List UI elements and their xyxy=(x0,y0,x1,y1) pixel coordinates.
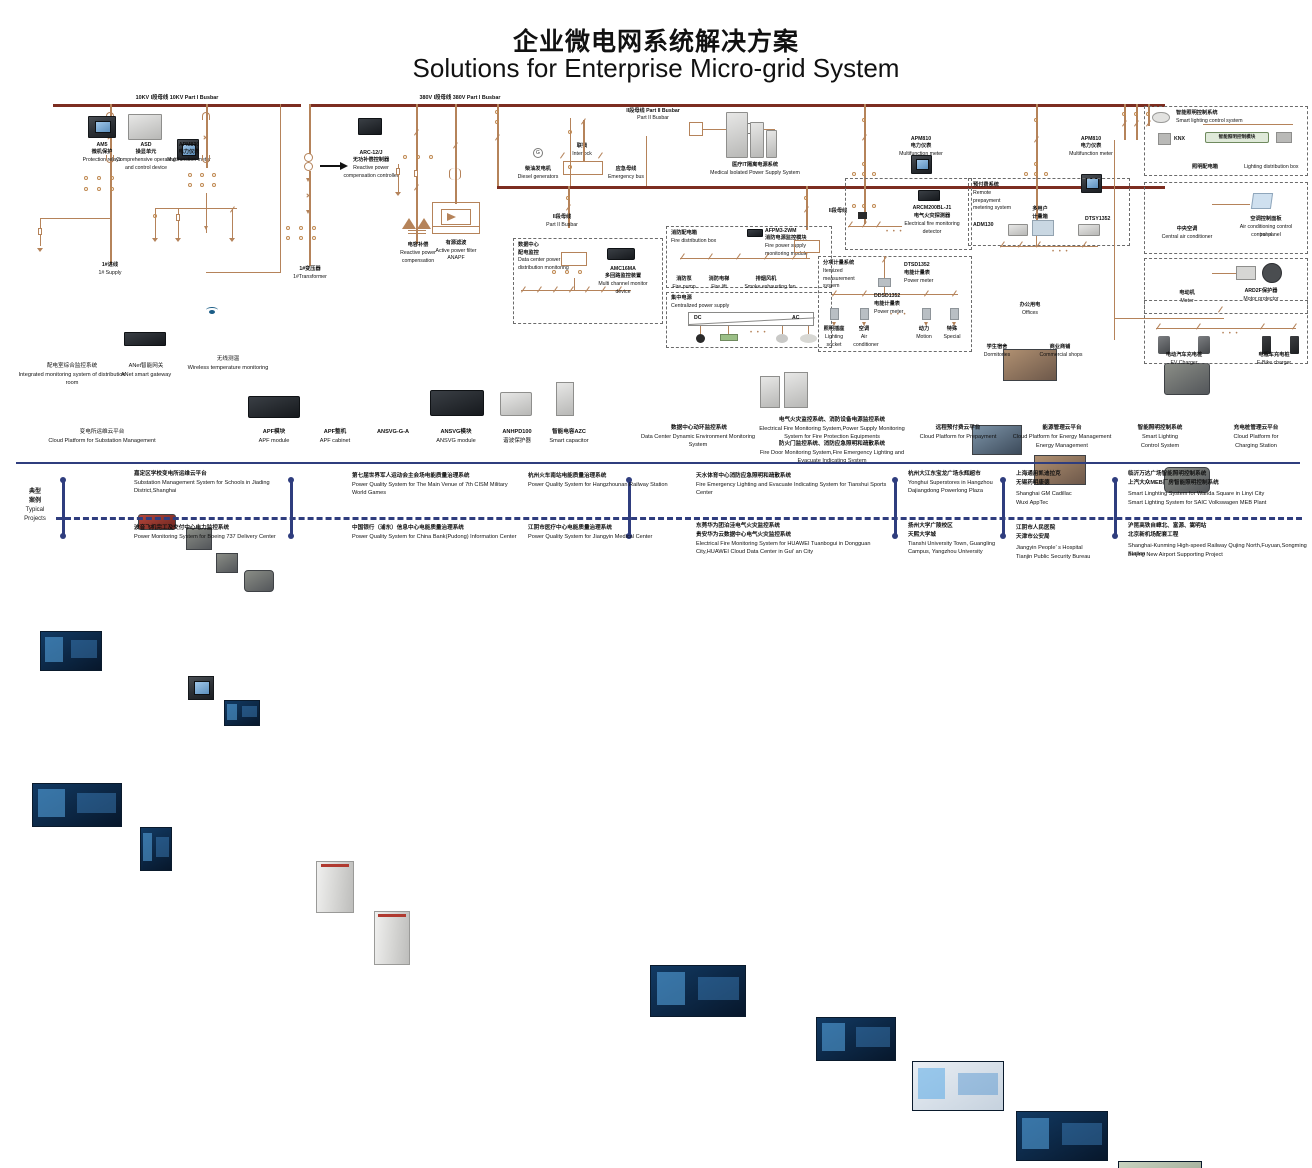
platform-1-en: Electrical Fire Monitoring System,Power … xyxy=(752,425,912,441)
fire-load-2-en: Smoke exhausting fan xyxy=(738,284,802,292)
motor-cn: 电动机 xyxy=(1162,290,1212,298)
ct-dc xyxy=(566,196,570,200)
platform-4-en2: Control System xyxy=(1112,442,1208,450)
typical-label-cn: 典型 案例 xyxy=(14,488,56,506)
itemized-load-3-en: Special xyxy=(936,334,968,342)
project-7b-en2: Beijing New Airport Supporting Project xyxy=(1128,551,1308,559)
project-2a-cn: 第七届世界军人运动会主会场电能质量治理系统 xyxy=(352,472,518,480)
wire-vt1 xyxy=(155,208,156,238)
ct-det-2 xyxy=(862,162,866,166)
project-1a-en: Substation Management System for Schools… xyxy=(134,479,296,496)
motor-protector-icon xyxy=(1236,266,1256,280)
reactor-symbol xyxy=(447,168,463,182)
prepay-multiuser-cn: 多用户 计量箱 xyxy=(1024,206,1056,221)
product-row-1-en: APF cabinet xyxy=(308,437,362,445)
ebike-charger-cn: 电瓶车充电桩 xyxy=(1240,352,1308,360)
switch-charging xyxy=(1218,312,1224,318)
platform-2-cn: 远程预付费云平台 xyxy=(910,424,1006,432)
wire-gen-top xyxy=(497,104,499,132)
itemized-meter-top-cn: 电能计量表 xyxy=(904,270,952,278)
centralized-loads: • • • xyxy=(694,326,814,342)
apf-model: ANAPF xyxy=(420,255,492,263)
product-photo-hmi xyxy=(224,700,260,726)
ground-symbol-4 xyxy=(229,238,235,242)
project-5b-en: Tianshi University Town, Guangling Campu… xyxy=(908,540,1000,557)
arrow-transformer-2 xyxy=(306,210,310,214)
switch-gen xyxy=(495,140,501,146)
ev-charger-en: EV Charger xyxy=(1148,360,1220,368)
ground-symbol-3 xyxy=(175,238,181,242)
supply-label-cn: 1#进线 xyxy=(62,262,158,270)
project-2a-en: Power Quality System for The Main Venue … xyxy=(352,481,518,498)
itemized-meter-top-model: DTSD1352 xyxy=(904,262,952,270)
hvac-unit-photo xyxy=(1164,363,1210,395)
detector-cn: 电气火灾探测器 xyxy=(896,213,968,221)
centralized-dc-label: DC xyxy=(694,315,710,323)
ground-symbol xyxy=(37,248,43,252)
fire-switchgear-symbol xyxy=(794,240,820,253)
itemized-meter-top-en: Power meter xyxy=(904,278,952,286)
project-6a-en: Shanghai GM Cadillac xyxy=(1016,490,1112,498)
ct-medical-1 xyxy=(568,130,572,134)
prepay-dtsy-model: DTSY1352 xyxy=(1085,216,1127,224)
itemized-load-1-en2: conditioner xyxy=(846,342,886,350)
wire-vt2 xyxy=(178,208,179,238)
project-5b-cn: 扬州大学广陵校区 xyxy=(908,522,1000,530)
projects-node-1a xyxy=(60,477,66,483)
amc-en: Multi channel monitor device xyxy=(592,281,654,296)
projects-divider xyxy=(16,462,1300,464)
device-photo-medical-cabinet-3 xyxy=(766,130,777,158)
fire-load-0-en: Fire pump xyxy=(666,284,702,292)
sensor-photo-ring xyxy=(244,570,274,592)
switch-reactive-2 xyxy=(414,190,420,196)
projects-node-5a xyxy=(1000,477,1006,483)
product-upper-1-cn: ANet智能网关 xyxy=(116,362,176,370)
amc-cn: 多回路监控装置 xyxy=(592,273,654,281)
project-1b-en: Power Monitoring System for Boeing 737 D… xyxy=(134,533,296,541)
busbar-380v-label: 380V I段母线 380V Part I Busbar xyxy=(330,93,590,101)
building-1-cn: 学生宿舍 xyxy=(970,344,1024,352)
switch-symbol xyxy=(230,212,236,218)
hvac-unit-cn: 中央空调 xyxy=(1160,226,1214,234)
product-photo-cloud-substation xyxy=(32,783,122,827)
detector-model: ARCM200BL-J1 xyxy=(896,205,968,213)
building-1-en: Dormitories xyxy=(970,352,1024,360)
itemized-title-cn: 分项计量系统 xyxy=(823,260,879,268)
product-photo-apf-cabinet xyxy=(316,861,354,913)
project-6b-cn: 江阴市人民医院 xyxy=(1016,524,1112,532)
projects-rail-6 xyxy=(1114,480,1117,536)
platform-5-en: Cloud Platform for xyxy=(1206,433,1306,441)
device-photo-multiuser-box xyxy=(1032,220,1054,236)
fuse-symbol xyxy=(38,228,42,235)
prepay-title-cn: 预付费系统 xyxy=(973,182,1027,190)
switch-fire xyxy=(804,212,810,218)
project-6a-cn: 上海通用凯迪拉克 xyxy=(1016,470,1112,478)
platform-3-en: Cloud Platform for Energy Management xyxy=(1010,433,1114,441)
diesel-en: Diesel generators xyxy=(508,174,568,182)
ct-group-reactive xyxy=(403,155,449,164)
project-5b-cn2: 天熙大学城 xyxy=(908,531,1000,539)
detector-en: Electrical fire monitoring detector xyxy=(896,221,968,236)
project-4a-cn: 天水体育中心消防应急照明和疏散系统 xyxy=(696,472,892,480)
breaker-symbol-2 xyxy=(203,134,208,139)
device-photo-arcm200 xyxy=(918,190,940,201)
ground-reactive xyxy=(395,192,401,196)
fire-load-1-cn: 消防电梯 xyxy=(700,276,738,284)
page-title-en: Solutions for Enterprise Micro-grid Syst… xyxy=(0,53,1312,84)
platform-screen-energy xyxy=(1016,1111,1108,1161)
ct-gen-2 xyxy=(495,120,499,124)
wireless-signal-icon xyxy=(205,305,219,314)
ct-prepay-2 xyxy=(1034,162,1038,166)
switch-reactive xyxy=(414,135,420,141)
device-photo-arc12j xyxy=(358,118,382,135)
product-photo-apf-module xyxy=(248,396,300,418)
prepay-feeder-group: • • • xyxy=(1000,246,1100,260)
itemized-load-2-cn: 动力 xyxy=(910,326,938,334)
prepay-adm-model: ADM130 xyxy=(973,222,1007,230)
motor-protector-model: ARD2F保护器 xyxy=(1228,288,1294,296)
project-2b-cn: 中国银行（浦东）信息中心电能质量治理系统 xyxy=(352,524,518,532)
product-photo-anet-gateway xyxy=(124,332,166,346)
isolator-symbol-2b xyxy=(202,155,210,163)
device-photo-asd xyxy=(128,114,162,140)
ct-group-left xyxy=(84,176,136,198)
platform-1-cn: 电气火灾监控系统、消防设备电源监控系统 xyxy=(756,416,908,424)
itemized-load-3-cn: 特殊 xyxy=(938,326,966,334)
wire-transformer-link xyxy=(206,272,281,273)
platform-screen-datacenter xyxy=(650,965,746,1017)
building-0-en: Offices xyxy=(1002,310,1058,318)
platform-0-en: Data Center Dynamic Environment Monitori… xyxy=(638,433,758,449)
device-photo-am5 xyxy=(88,116,116,138)
interlock-switch-l xyxy=(560,158,566,164)
wire-dc-down xyxy=(574,278,575,290)
apf-cn: 有源滤波 xyxy=(426,240,486,248)
fire-load-2-cn: 排烟风机 xyxy=(746,276,786,284)
fuse-reactive xyxy=(414,170,418,177)
product-photo-smart-capacitor xyxy=(556,382,574,416)
product-row-0-cn: APF模块 xyxy=(246,428,302,436)
switch-interlock-up xyxy=(581,124,587,130)
cloud-substation-en: Cloud Platform for Substation Management xyxy=(18,437,186,445)
lighting-box-en: Lighting distribution box xyxy=(1244,164,1306,172)
fire-feeder-group xyxy=(680,258,812,272)
centralized-title-cn: 集中电源 xyxy=(671,295,721,303)
apf-unit-symbol xyxy=(432,202,480,234)
wire-bottom-left-rail xyxy=(155,208,237,209)
device-photo-amc16ma xyxy=(607,248,635,260)
device-photo-medical-cabinet-2 xyxy=(750,122,764,158)
transformer-symbol-bottom xyxy=(304,162,313,171)
medical-cn: 医疗IT隔离电源系统 xyxy=(700,162,810,170)
project-6b-cn2: 天津市公安局 xyxy=(1016,533,1112,541)
part2-busbar-en: Part II Busbar xyxy=(617,115,689,123)
projects-rail-5 xyxy=(1002,480,1005,536)
building-2-cn: 商业商铺 xyxy=(1032,344,1088,352)
product-row-5-cn: 智能电容AZC xyxy=(542,428,596,436)
ev-charger-cn: 电动汽车充电桩 xyxy=(1148,352,1220,360)
ct-det-1 xyxy=(862,118,866,122)
projects-node-1b xyxy=(60,533,66,539)
transfer-switch-symbol xyxy=(689,122,703,136)
arrow-transformer xyxy=(306,178,310,182)
project-4a-en: Fire Emergency Lighting and Evacuate Ind… xyxy=(696,481,892,498)
product-row-3-en: ANSVG module xyxy=(426,437,486,445)
medical-en: Medical Isolated Power Supply System xyxy=(692,170,818,178)
wire-medical-drop2 xyxy=(570,118,571,186)
ground-symbol-2 xyxy=(152,238,158,242)
device-photo-afpm3 xyxy=(747,229,763,237)
wire-right-trunk xyxy=(1114,140,1115,340)
itemized-load-0-cn: 照明插座 xyxy=(818,326,850,334)
device-photo-dtsy1352 xyxy=(1078,224,1100,236)
prepay-title-en: Remote prepayment metering system xyxy=(973,190,1019,213)
itemized-load-1-cn: 空调 xyxy=(850,326,878,334)
project-7a-cn2: 上汽大众MEB厂房智能照明控制系统 xyxy=(1128,479,1308,487)
lighting-panel-icon xyxy=(1152,112,1170,123)
project-4b-cn: 东莞华为团泊洼电气火灾监控系统 xyxy=(696,522,896,530)
project-2b-en: Power Quality System for China Bank(Pudo… xyxy=(352,533,518,541)
product-row-4-cn: ANHPD100 xyxy=(490,428,544,436)
platform-screen-fire xyxy=(816,1017,896,1061)
apm810-right-cn: 电力仪表 xyxy=(1066,143,1116,151)
device-photo-medical-cabinet-1 xyxy=(726,112,748,158)
wire-transformer-hv xyxy=(309,104,311,154)
meter-icon-dtsd xyxy=(878,278,891,287)
ct-group-left-2 xyxy=(188,173,232,193)
generator-symbol: G xyxy=(533,148,543,158)
diesel-cn: 柴油发电机 xyxy=(512,166,564,174)
project-7a-en: Smart Linghting System for Wanda Square … xyxy=(1128,490,1308,498)
product-photo-integrated-monitoring xyxy=(40,631,102,671)
building-2-en: Commercial shops xyxy=(1030,352,1092,360)
ct-prepay-1 xyxy=(1034,118,1038,122)
supply-label-en: 1# Supply xyxy=(62,270,158,278)
wire-medical-drop1 xyxy=(646,136,647,186)
detector-icon xyxy=(858,212,867,219)
det-feeder-group: • • • xyxy=(848,226,904,238)
lighting-module-cn: 智能照明控制模块 xyxy=(1203,134,1271,141)
project-1a-cn: 嘉定区学校变电所运维云平台 xyxy=(134,470,296,478)
product-row-4-en: 谐波保护器 xyxy=(490,437,544,445)
hvac-panel-cn: 空调控制面板 xyxy=(1238,216,1294,224)
project-6b-en2: Tianjin Public Security Bureau xyxy=(1016,553,1126,561)
centralized-title-en: Centralized power supply xyxy=(671,303,733,311)
fire-title-cn: 消防配电箱 xyxy=(671,230,725,238)
cloud-substation-cn: 变电所运维云平台 xyxy=(24,428,180,436)
project-4b-cn2: 贵安华为云数据中心电气火灾监控系统 xyxy=(696,531,896,539)
busbar-10kv-label: 10KV I段母线 10KV Part I Busbar xyxy=(53,93,301,101)
project-1b-cn: 波音飞机完工及交付中心电力监控系统 xyxy=(134,524,296,532)
knx-device-icon xyxy=(1158,133,1171,145)
projects-node-5b xyxy=(1000,533,1006,539)
lighting-knx-bus-arrows xyxy=(1203,124,1293,130)
emergency-bus-cn: 应急母线 xyxy=(604,166,648,174)
platform-device-fire-1 xyxy=(760,376,780,408)
transformer-symbol-top xyxy=(304,153,313,162)
project-3b-cn: 江阴市医疗中心电能质量治理系统 xyxy=(528,524,678,532)
lighting-actuator-icon xyxy=(1276,132,1292,143)
fire-load-1-en: Fire lift xyxy=(700,284,738,292)
platform-5-cn: 充电桩管理云平台 xyxy=(1210,424,1302,432)
project-7b-cn: 沪昆高铁自嶂北、富源、嵩明站 xyxy=(1128,522,1308,530)
product-row-5-en: Smart capacitor xyxy=(542,437,596,445)
platform-3-en2: Energy Management xyxy=(1010,442,1114,450)
motor-starter-icon xyxy=(1262,263,1282,283)
fire-load-0-cn: 消防泵 xyxy=(668,276,700,284)
dc-switchgear-symbol xyxy=(561,252,587,266)
lighting-box-cn: 照明配电箱 xyxy=(1192,164,1242,172)
vt-symbol xyxy=(153,214,157,218)
project-6a-cn2: 无锡药明康德 xyxy=(1016,479,1112,487)
hvac-unit-en: Central air conditioner xyxy=(1154,234,1220,242)
product-photo-wireless-temp xyxy=(188,676,214,700)
interlock-switch-r xyxy=(598,158,604,164)
platform-screen-prepayment xyxy=(912,1061,1004,1111)
product-row-3-cn: ANSVG模块 xyxy=(426,428,486,436)
wire-motor-link xyxy=(1212,273,1236,274)
itemized-load-0-en: Lighting xyxy=(818,334,850,342)
ebike-charger-en: E-Bike charger xyxy=(1240,360,1308,368)
switch-prepay xyxy=(1034,142,1040,148)
transformer-label-cn: 1#变压器 xyxy=(272,266,348,274)
projects-node-6b xyxy=(1112,533,1118,539)
switch-det xyxy=(862,140,868,146)
typical-label-en: Typical Projects xyxy=(14,506,56,524)
platform-4-en: Smart Lighting xyxy=(1112,433,1208,441)
project-7a-cn: 临沂万达广场智能照明控制系统 xyxy=(1128,470,1308,478)
apm810-left-cn: 电力仪表 xyxy=(896,143,946,151)
transformer-label-en: 1#Transformer xyxy=(272,274,348,282)
itemized-load-1-en: Air xyxy=(850,334,878,342)
charging-feeder-group: • • • xyxy=(1156,328,1298,340)
project-6b-en: Jiangyin People’ s Hospital xyxy=(1016,544,1112,552)
capacitor-bank-symbol xyxy=(402,218,432,236)
switch-apf xyxy=(453,148,459,154)
projects-node-6a xyxy=(1112,477,1118,483)
wire-charging-feed xyxy=(1114,318,1224,319)
product-photo-ansvg-g-a xyxy=(374,911,410,965)
ct-medical-2 xyxy=(568,165,572,169)
project-3a-cn: 杭州火车南站电能质量治理系统 xyxy=(528,472,678,480)
product-row-1-cn: APF整机 xyxy=(308,428,362,436)
arrow-symbol xyxy=(204,226,208,230)
lighting-title-cn: 智能照明控制系统 xyxy=(1176,110,1266,118)
dc-part2-cn: II段母线 xyxy=(540,214,584,222)
product-upper-2-cn: 无线测温 xyxy=(188,355,268,363)
product-row-2-en: ANSVG-G-A xyxy=(366,428,420,436)
wire-apf-bottom xyxy=(432,226,480,227)
switch-itemized xyxy=(882,262,888,268)
project-7b-cn2: 北京新机场配套工程 xyxy=(1128,531,1308,539)
product-upper-1-en: ANet smart gateway xyxy=(110,371,182,379)
fuse-symbol-2 xyxy=(176,214,180,221)
product-photo-ansvg-module xyxy=(430,390,484,416)
ct-group-dc xyxy=(552,270,596,278)
centralized-ac-label: AC xyxy=(792,315,808,323)
projects-rail-1 xyxy=(62,480,65,536)
fire-title-en: Fire distribution box xyxy=(671,238,729,246)
wire-transformer-lv xyxy=(309,171,311,266)
device-photo-adm130 xyxy=(1008,224,1028,236)
projects-node-4a xyxy=(892,477,898,483)
wire-apf-branch xyxy=(455,104,457,204)
project-3a-en: Power Quality System for Hangzhounan Rai… xyxy=(528,481,678,489)
wire-branch-left xyxy=(40,218,112,219)
project-5a-cn: 杭州大江东宝龙广场永辉超市 xyxy=(908,470,1000,478)
hvac-panel-en2: control panel xyxy=(1234,232,1298,240)
project-5a-en: Yonghui Superstores in Hangzhou Dajiangd… xyxy=(908,479,1000,496)
platform-screen-lighting xyxy=(1118,1161,1202,1168)
wire-to-transformer xyxy=(280,104,281,272)
product-row-0-en: APF module xyxy=(246,437,302,445)
arc-cn: 无功补偿控制器 xyxy=(341,157,401,165)
emergency-bus-en: Emergency bus xyxy=(600,174,652,182)
apm810-left-en: Multifunction meter xyxy=(888,151,954,159)
platform-4-cn: 智能照明控制系统 xyxy=(1116,424,1204,432)
sensor-photo-ct2 xyxy=(216,553,238,573)
hvac-control-panel-icon xyxy=(1251,193,1273,209)
busbar-10kv xyxy=(53,104,301,107)
platform-2-en: Cloud Platform for Prepayment xyxy=(906,433,1010,441)
project-6a-en2: Wuxi AppTec xyxy=(1016,499,1112,507)
project-7a-en2: Smart Lighting System for SAIC Volkswage… xyxy=(1128,499,1308,507)
building-0-cn: 办公用电 xyxy=(1002,302,1058,310)
product-upper-0-cn: 配电室综合监控系统 xyxy=(22,362,122,370)
arc-en: Reactive power compensation controller xyxy=(341,165,401,180)
ct-gen-1 xyxy=(495,110,499,114)
project-4b-en: Electrical Fire Monitoring System for HU… xyxy=(696,540,896,557)
platform-3-cn: 能源管理云平台 xyxy=(1014,424,1110,432)
dc-part2-en: Part II Busbar xyxy=(536,222,588,230)
project-3b-en: Power Quality System for Jiangyin Medica… xyxy=(528,533,678,541)
platform-0-cn: 数据中心动环监控系统 xyxy=(644,424,754,432)
product-photo-anhpd100 xyxy=(500,392,532,416)
wire-hvac-link xyxy=(1212,204,1250,205)
ct-group-transformer xyxy=(286,226,332,246)
fuse-reactive-aux xyxy=(396,168,400,175)
ct-fire xyxy=(804,196,808,200)
platform-5-en2: Charging Station xyxy=(1206,442,1306,450)
breaker-transformer xyxy=(306,192,311,197)
product-upper-2-en: Wireless temperature monitoring xyxy=(186,364,270,372)
itemized-title-en: Itemized measurement system xyxy=(823,268,867,291)
platform-1-cn2: 防火门监控系统、消防应急照明和疏散系统 xyxy=(756,440,908,448)
knx-label: KNX xyxy=(1174,136,1198,144)
isolator-symbol-2 xyxy=(202,112,210,120)
product-photo-cloud-mobile xyxy=(140,827,172,871)
interlock-cn: 联锁 xyxy=(562,143,602,151)
platform-device-fire-2 xyxy=(784,372,808,408)
